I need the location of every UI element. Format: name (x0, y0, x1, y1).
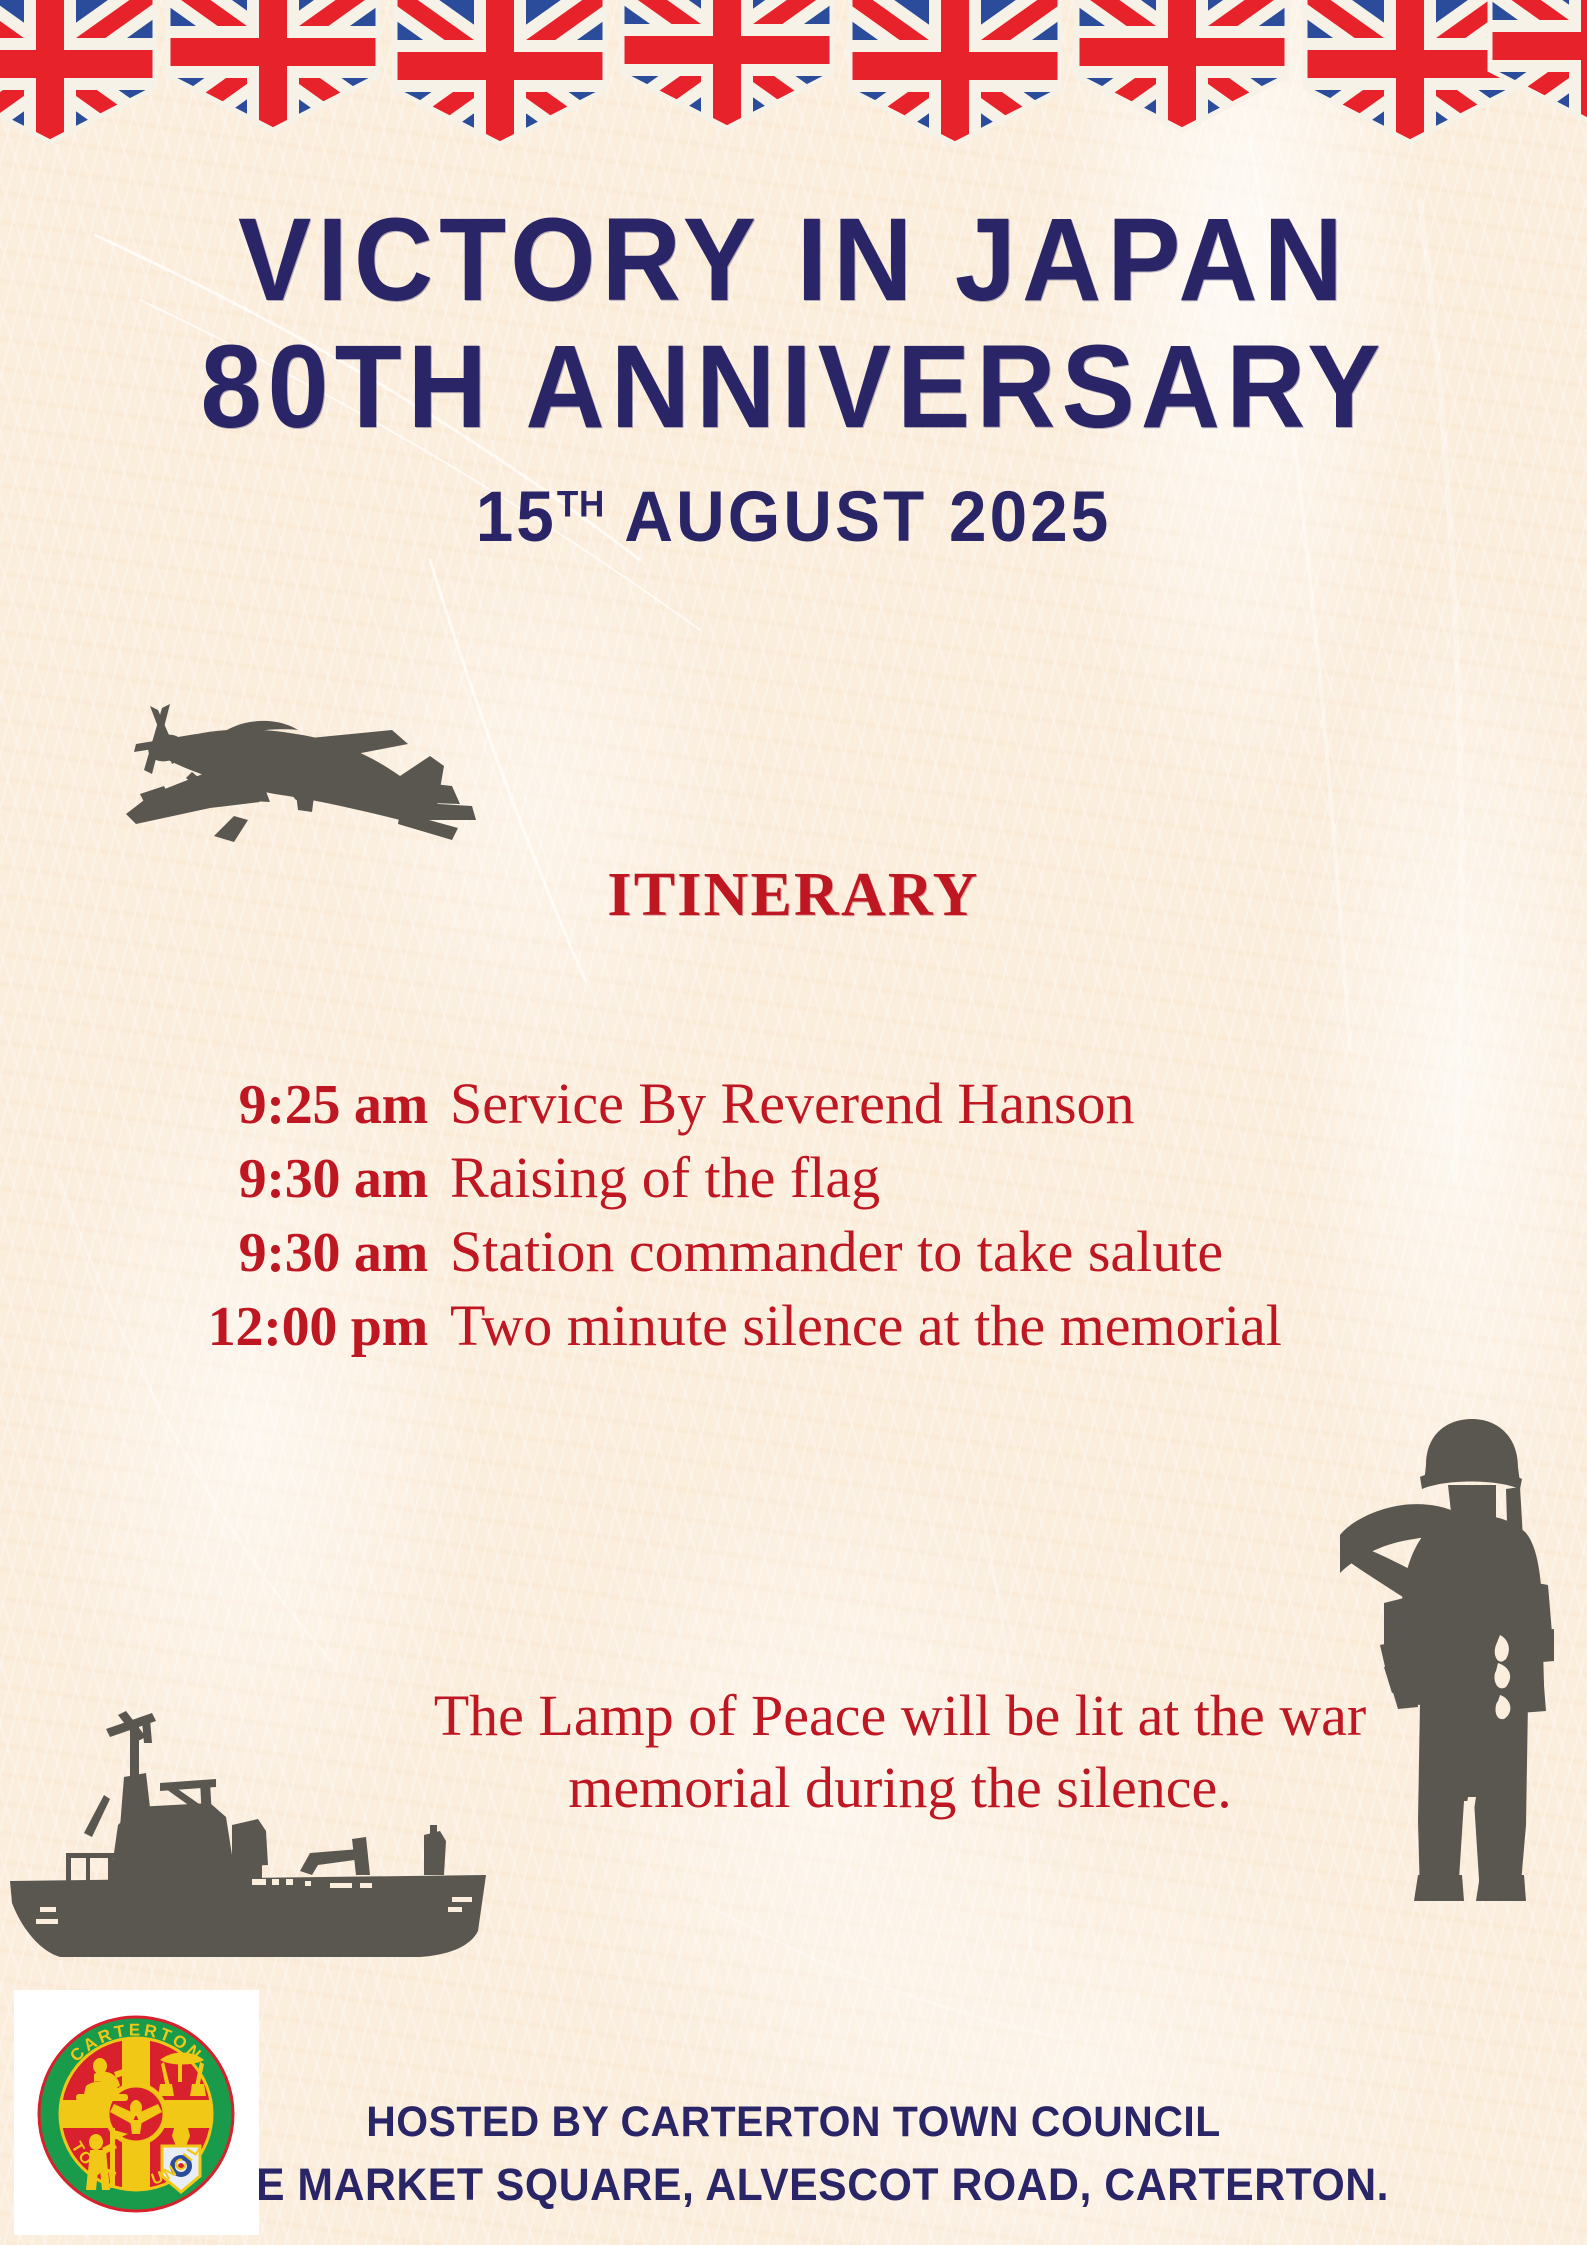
schedule-time: 9:30 am (0, 1147, 450, 1212)
schedule-row: 12:00 pm Two minute silence at the memor… (0, 1292, 1587, 1360)
bunting-flag (602, 0, 852, 142)
schedule-row: 9:25 am Service By Reverend Hanson (0, 1070, 1587, 1138)
page-title-line-2: 80TH ANNIVERSARY (56, 332, 1532, 443)
event-date-day: 15 (476, 478, 557, 557)
lamp-of-peace-notice: The Lamp of Peace will be lit at the war… (430, 1680, 1370, 1824)
footer-address: THE MARKET SQUARE, ALVESCOT ROAD, CARTER… (40, 2159, 1548, 2211)
event-date: 15TH AUGUST 2025 (40, 477, 1548, 558)
bunting-flag (148, 0, 398, 144)
schedule-time: 9:25 am (0, 1073, 450, 1138)
warship-silhouette (0, 1685, 500, 1975)
bunting-flag (1057, 0, 1307, 144)
poster-headline-block: VICTORY IN JAPAN 80TH ANNIVERSARY 15TH A… (0, 205, 1587, 558)
poster-canvas: VICTORY IN JAPAN 80TH ANNIVERSARY 15TH A… (0, 0, 1587, 2245)
bunting-flag (1470, 0, 1587, 138)
schedule-description: Raising of the flag (450, 1144, 1350, 1211)
schedule-time: 12:00 pm (0, 1295, 450, 1360)
schedule-description: Station commander to take salute (450, 1218, 1350, 1285)
page-title-line-1: VICTORY IN JAPAN (56, 205, 1532, 316)
itinerary-schedule: 9:25 am Service By Reverend Hanson 9:30 … (0, 1070, 1587, 1366)
bunting-flag (830, 0, 1080, 150)
schedule-description: Service By Reverend Hanson (450, 1070, 1350, 1137)
schedule-time: 9:30 am (0, 1221, 450, 1286)
schedule-row: 9:30 am Station commander to take salute (0, 1218, 1587, 1286)
bunting-flag (375, 0, 625, 150)
saluting-soldier-silhouette (1340, 1405, 1587, 1905)
event-date-rest: AUGUST 2025 (624, 478, 1111, 557)
bunting-flag (0, 0, 175, 150)
carterton-town-council-logo: CARTERTON TOWN COUNCIL (14, 1990, 259, 2235)
union-jack-bunting (0, 0, 1587, 150)
schedule-row: 9:30 am Raising of the flag (0, 1144, 1587, 1212)
footer-block: HOSTED BY CARTERTON TOWN COUNCIL THE MAR… (40, 2098, 1548, 2211)
event-date-ordinal: TH (557, 483, 605, 524)
spitfire-silhouette (100, 690, 480, 870)
footer-host: HOSTED BY CARTERTON TOWN COUNCIL (40, 2098, 1548, 2147)
itinerary-heading: ITINERARY (0, 860, 1587, 931)
schedule-description: Two minute silence at the memorial (450, 1292, 1350, 1359)
